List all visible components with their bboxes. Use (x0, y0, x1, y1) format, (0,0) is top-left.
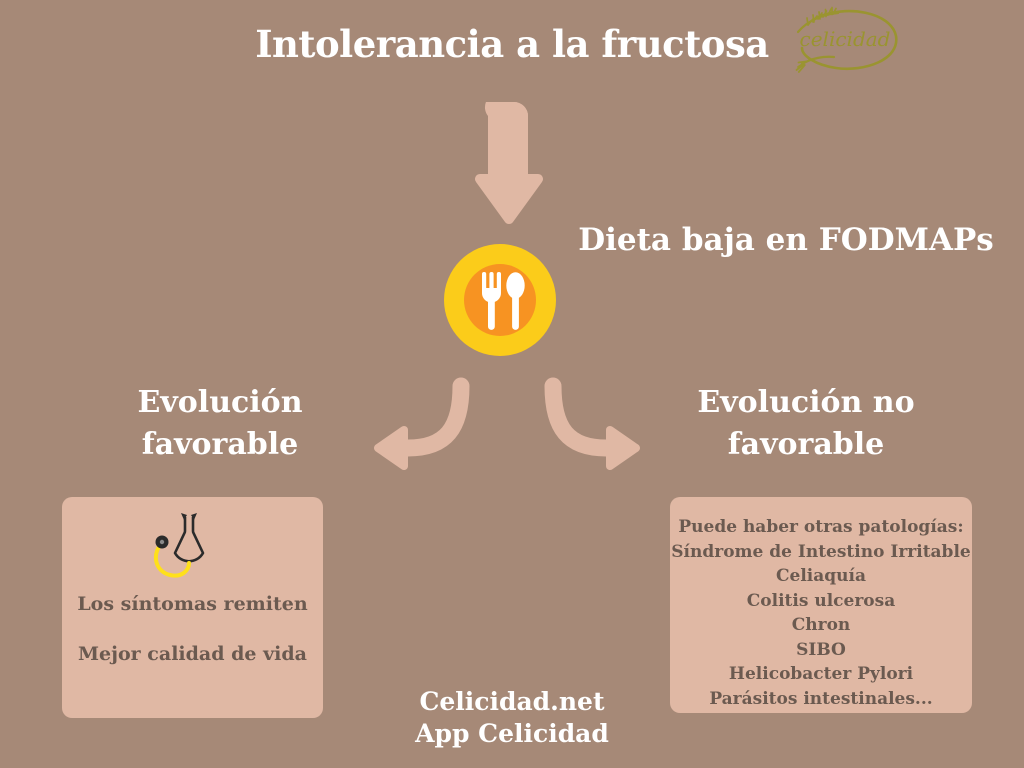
branch-label-no-favorable-line2: favorable (648, 424, 964, 466)
panel-favorable: Los síntomas remiten Mejor calidad de vi… (62, 497, 323, 718)
diet-label: Dieta baja en FODMAPs (566, 221, 1006, 259)
celicidad-logo-icon: celicidad (786, 2, 904, 74)
celicidad-logo: celicidad (786, 2, 904, 74)
infographic-canvas: Intolerancia a la fructosa (0, 0, 1024, 768)
panel-no-favorable-item-6: Parásitos intestinales... (670, 687, 972, 712)
panel-no-favorable-heading: Puede haber otras patologías: (670, 515, 972, 540)
panel-no-favorable-item-4: SIBO (670, 638, 972, 663)
branch-label-favorable-line1: Evolución (62, 382, 378, 424)
panel-no-favorable-item-2: Colitis ulcerosa (670, 589, 972, 614)
branch-label-no-favorable: Evolución no favorable (648, 382, 964, 466)
stethoscope-icon (140, 509, 238, 591)
footer-website: Celicidad.net (312, 686, 712, 718)
panel-no-favorable-item-5: Helicobacter Pylori (670, 662, 972, 687)
footer-branding: Celicidad.net App Celicidad (312, 686, 712, 750)
curved-arrow-right-icon (532, 372, 652, 480)
panel-no-favorable-text: Puede haber otras patologías: Síndrome d… (670, 515, 972, 711)
branch-label-no-favorable-line1: Evolución no (648, 382, 964, 424)
down-arrow-icon (455, 92, 545, 232)
branch-label-favorable-line2: favorable (62, 424, 378, 466)
fork-spoon-glyph (444, 244, 556, 356)
panel-no-favorable-item-1: Celiaquía (670, 564, 972, 589)
curved-arrow-left-icon (362, 372, 482, 480)
footer-app: App Celicidad (312, 718, 712, 750)
panel-favorable-text: Los síntomas remiten Mejor calidad de vi… (62, 593, 323, 666)
celicidad-logo-text: celicidad (800, 27, 891, 51)
plate-fork-spoon-icon (444, 244, 556, 356)
panel-favorable-line-1: Mejor calidad de vida (62, 643, 323, 666)
panel-no-favorable-item-0: Síndrome de Intestino Irritable (670, 540, 972, 565)
panel-no-favorable-item-3: Chron (670, 613, 972, 638)
branch-label-favorable: Evolución favorable (62, 382, 378, 466)
panel-favorable-line-0: Los síntomas remiten (62, 593, 323, 616)
panel-no-favorable: Puede haber otras patologías: Síndrome d… (670, 497, 972, 713)
